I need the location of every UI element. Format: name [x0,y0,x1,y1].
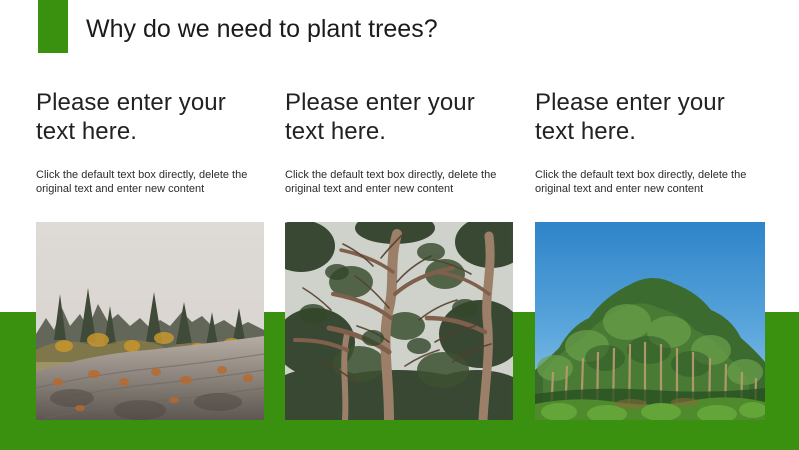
column-image-2[interactable] [285,222,513,420]
column-heading-3[interactable]: Please enter your text here. [535,88,763,146]
eucalyptus-plantation-blue-sky-image [535,222,765,420]
column-heading-2[interactable]: Please enter your text here. [285,88,513,146]
slide-title: Why do we need to plant trees? [86,14,438,44]
content-column-3: Please enter your text here. Click the d… [535,88,763,146]
rocky-hillside-with-pine-trees-image [36,222,264,420]
tree-canopy-branches-from-below-image [285,222,513,420]
column-image-1[interactable] [36,222,264,420]
content-column-1: Please enter your text here. Click the d… [36,88,264,146]
column-body-2[interactable]: Click the default text box directly, del… [285,168,507,196]
column-body-1[interactable]: Click the default text box directly, del… [36,168,258,196]
column-heading-1[interactable]: Please enter your text here. [36,88,264,146]
column-image-3[interactable] [535,222,765,420]
column-body-3[interactable]: Click the default text box directly, del… [535,168,757,196]
content-column-2: Please enter your text here. Click the d… [285,88,513,146]
slide-canvas: Why do we need to plant trees? Please en… [0,0,799,450]
title-accent-bar [38,0,68,53]
